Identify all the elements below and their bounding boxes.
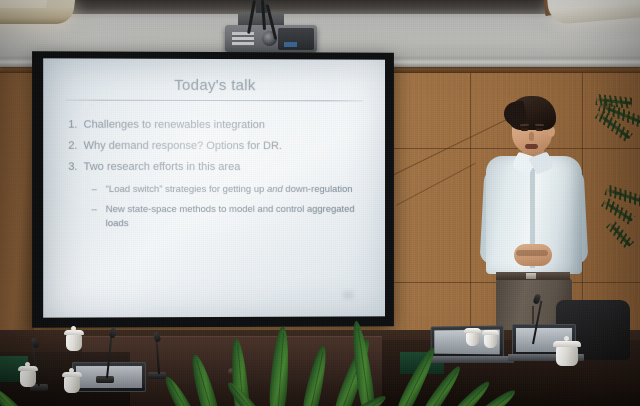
slide-list-item: 3. Two research efforts in this area [63,157,365,177]
ceiling-light-panel [0,0,48,8]
presenter-nose [529,132,534,141]
slide-sub-text-a: “Load switch” strategies for getting up [106,184,267,195]
teacup-knob [25,362,30,367]
slide-faint-mark [343,292,353,299]
teacup-lid [464,328,481,333]
slide-list-text: Two research efforts in this area [84,157,366,177]
teacup-knob [71,326,76,331]
slide-list-item: 2. Why demand response? Options for DR. [63,136,365,156]
projection-screen: Today's talk 1. Challenges to renewables… [32,51,394,328]
teacup [64,376,80,393]
slide-sub-list: – “Load switch” strategies for getting u… [63,183,365,231]
slide-sub-text: “Load switch” strategies for getting up … [106,183,366,197]
slide-sub-item: – “Load switch” strategies for getting u… [92,183,366,197]
slide-content: Today's talk 1. Challenges to renewables… [43,58,385,317]
screen-surface: Today's talk 1. Challenges to renewables… [43,58,385,317]
slide-title: Today's talk [63,76,365,94]
presenter-belt-buckle [526,273,536,279]
slide-sub-text-italic: and [267,184,283,195]
ceiling-light-icon [0,0,76,24]
slide-list-number: 3. [63,157,83,177]
slide-sub-text: New state-space methods to model and con… [106,203,366,231]
conference-room-photo: Today's talk 1. Challenges to renewables… [0,0,640,406]
presenter-eye [521,128,528,131]
slide-list-text: Why demand response? Options for DR. [84,136,366,156]
leaf-rib [277,334,283,406]
projector-indicator [284,42,297,47]
teacup-lid [482,330,499,335]
slide-list-item: 1. Challenges to renewables integration [63,115,365,136]
slide-sub-dash: – [92,183,106,197]
teacup [466,332,479,346]
teacup-knob [69,368,74,373]
teacup [20,370,36,387]
slide-title-underline [65,100,363,102]
teacup [66,334,82,351]
teacup-knob [564,336,569,341]
teacup-lid [553,341,581,347]
slide-list-number: 2. [63,136,83,156]
slide-sub-text-b: down-regulation [283,184,353,195]
laptop-base [424,356,514,363]
teacup [484,334,497,348]
slide-sub-item: – New state-space methods to model and c… [92,203,366,231]
teacup [556,346,578,366]
slide-list-text: Challenges to renewables integration [84,115,366,136]
projector-vent [232,32,254,46]
presenter-hand-shadow [516,250,548,256]
slide-sub-dash: – [92,203,106,217]
wall-left-panel [0,70,34,332]
slide-list-number: 1. [63,115,83,135]
presenter-eyebrow [535,124,544,126]
slide-numbered-list: 1. Challenges to renewables integration … [63,115,365,177]
presenter-eye [536,128,543,131]
presenter-mouth [525,144,538,149]
